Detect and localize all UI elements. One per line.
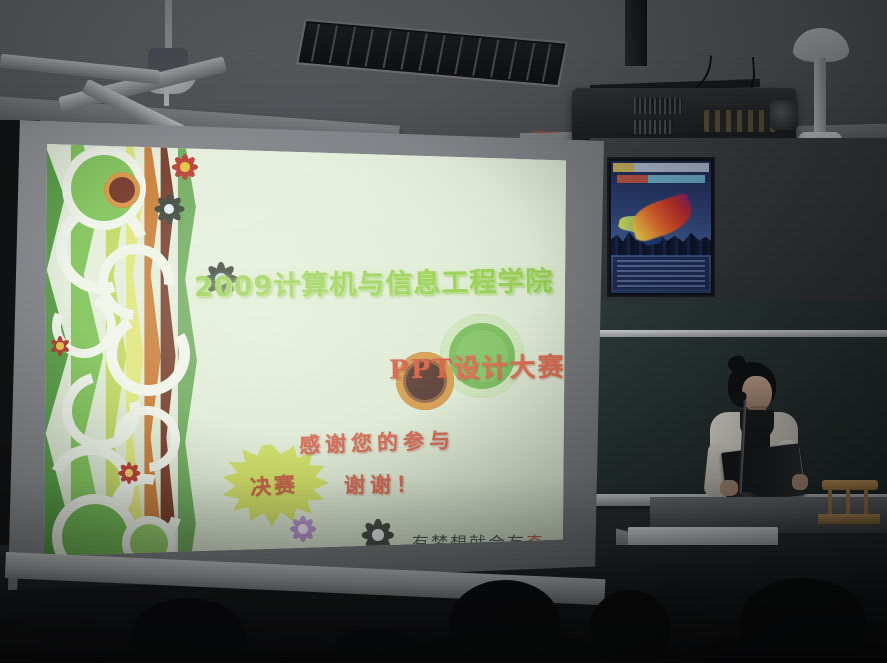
gooseneck-microphone xyxy=(731,392,761,504)
poster-subtitle-band xyxy=(617,175,705,183)
slide-subtitle-latin: PPT xyxy=(389,354,454,385)
audience-head xyxy=(740,578,866,663)
ceiling-fan-left xyxy=(0,0,280,140)
flower-icon xyxy=(154,194,184,224)
presentation-slide: 决赛 2009计算机与信息工程学院 PPT设计大赛 感谢您的参与 谢谢！ 有梦想… xyxy=(44,144,566,556)
projector-vent xyxy=(634,120,674,134)
presenter-right-hand xyxy=(792,474,808,490)
flower-icon xyxy=(172,154,198,180)
classroom-photo-scene: Panasonic xyxy=(0,0,887,663)
flower-icon xyxy=(290,516,316,542)
poster-text-block xyxy=(613,257,709,289)
fan-rod xyxy=(165,0,172,52)
flower-icon xyxy=(50,336,70,356)
wall-poster xyxy=(607,157,715,297)
wooden-chair xyxy=(818,480,880,540)
microphone-stem xyxy=(738,400,746,496)
slide-thanks-line-1: 感谢您的参与 xyxy=(299,424,456,459)
fan-rod xyxy=(814,58,826,140)
fan-downrod-tip xyxy=(164,88,169,106)
audience-head xyxy=(590,590,670,663)
slide-title: 2009计算机与信息工程学院 xyxy=(194,259,554,304)
fan-blade xyxy=(0,54,160,85)
projection-screen-assembly: 决赛 2009计算机与信息工程学院 PPT设计大赛 感谢您的参与 谢谢！ 有梦想… xyxy=(8,120,604,590)
projector-port-panel xyxy=(704,110,776,132)
projector-vent xyxy=(634,98,682,114)
projected-slide-area: 决赛 2009计算机与信息工程学院 PPT设计大赛 感谢您的参与 谢谢！ 有梦想… xyxy=(44,144,566,556)
slide-decorative-border xyxy=(44,144,214,556)
ceiling-mounted-projector: Panasonic xyxy=(572,58,812,148)
projector-lens xyxy=(770,100,798,130)
audience-head xyxy=(450,580,560,663)
chair-seat xyxy=(818,514,880,524)
slide-subtitle: PPT设计大赛 xyxy=(389,346,566,386)
flower-icon xyxy=(118,462,140,484)
chalkboard-top-rail xyxy=(590,330,887,337)
slide-subtitle-cn: 设计大赛 xyxy=(453,352,566,384)
fan-ceiling-canopy xyxy=(793,28,849,62)
poster-title-band xyxy=(613,163,709,172)
chair-back xyxy=(822,480,878,490)
slide-thanks-line-2: 谢谢！ xyxy=(344,468,423,499)
